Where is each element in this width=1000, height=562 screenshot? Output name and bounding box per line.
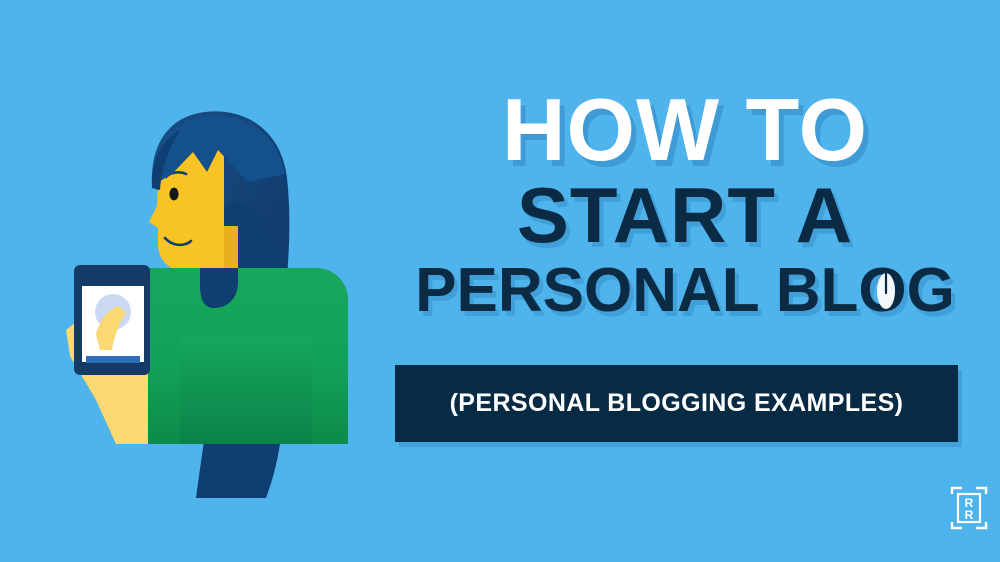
mouse-icon <box>876 267 896 311</box>
shirt <box>118 268 348 444</box>
headline-line-personal-blog-text: PERSONAL BLOG <box>415 256 955 325</box>
headline-line-start-a: START A <box>385 178 985 253</box>
ryrob-logo-icon[interactable]: R R <box>948 484 990 532</box>
headline-block: HOW TO START A PERSONAL BLOG <box>385 88 985 321</box>
graphic-canvas: HOW TO START A PERSONAL BLOG (PERSONAL B… <box>0 0 1000 562</box>
logo-letter-bottom: R <box>965 508 974 522</box>
headline-line-personal-blog: PERSONAL BLOG <box>385 261 985 321</box>
subtitle-banner-text: (PERSONAL BLOGGING EXAMPLES) <box>450 389 904 418</box>
headline-line-how-to: HOW TO <box>385 88 985 172</box>
woman-holding-phone-illustration <box>0 0 400 562</box>
subtitle-banner: (PERSONAL BLOGGING EXAMPLES) <box>395 365 958 442</box>
eye <box>169 188 178 201</box>
